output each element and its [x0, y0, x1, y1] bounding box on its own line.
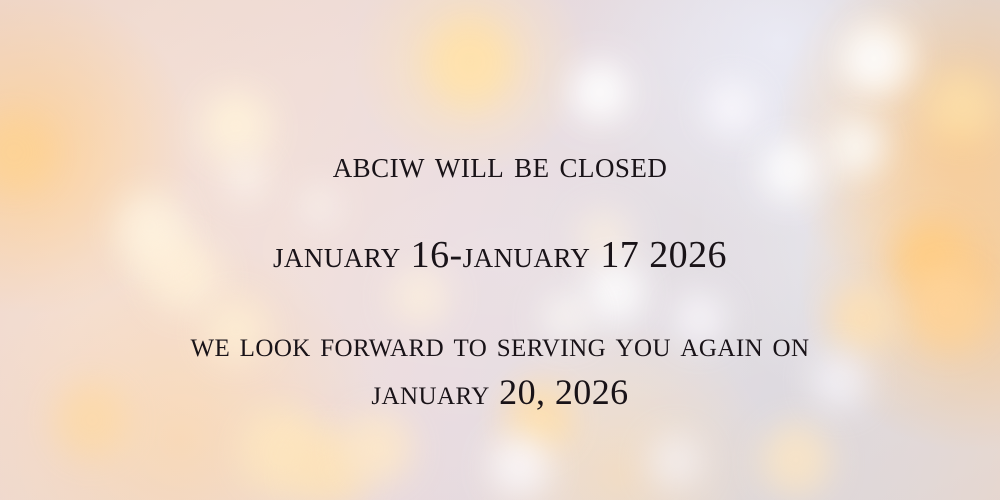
return-message: We look forward to serving you again on [0, 326, 1000, 362]
bokeh-light-warm [427, 19, 513, 112]
bokeh-light-cool [704, 80, 760, 140]
bokeh-light-warm [238, 408, 326, 500]
bokeh-light-cool [839, 23, 909, 99]
bokeh-light-cool [488, 434, 552, 500]
bokeh-light-warm [290, 430, 370, 500]
bokeh-light-warm [856, 24, 916, 89]
bokeh-light-warm [926, 70, 998, 148]
closure-headline: ABCIW will be closed [0, 146, 1000, 184]
bokeh-light-warm [759, 423, 833, 500]
bokeh-light-warm [342, 412, 414, 490]
announcement-banner: ABCIW will be closed January 16-January … [0, 0, 1000, 500]
closure-message-block: ABCIW will be closed January 16-January … [0, 146, 1000, 410]
closure-dates: January 16-January 17 2026 [0, 236, 1000, 274]
reopen-date: January 20, 2026 [0, 374, 1000, 410]
bokeh-light-cool [648, 434, 704, 494]
bokeh-light-cool [569, 61, 631, 128]
